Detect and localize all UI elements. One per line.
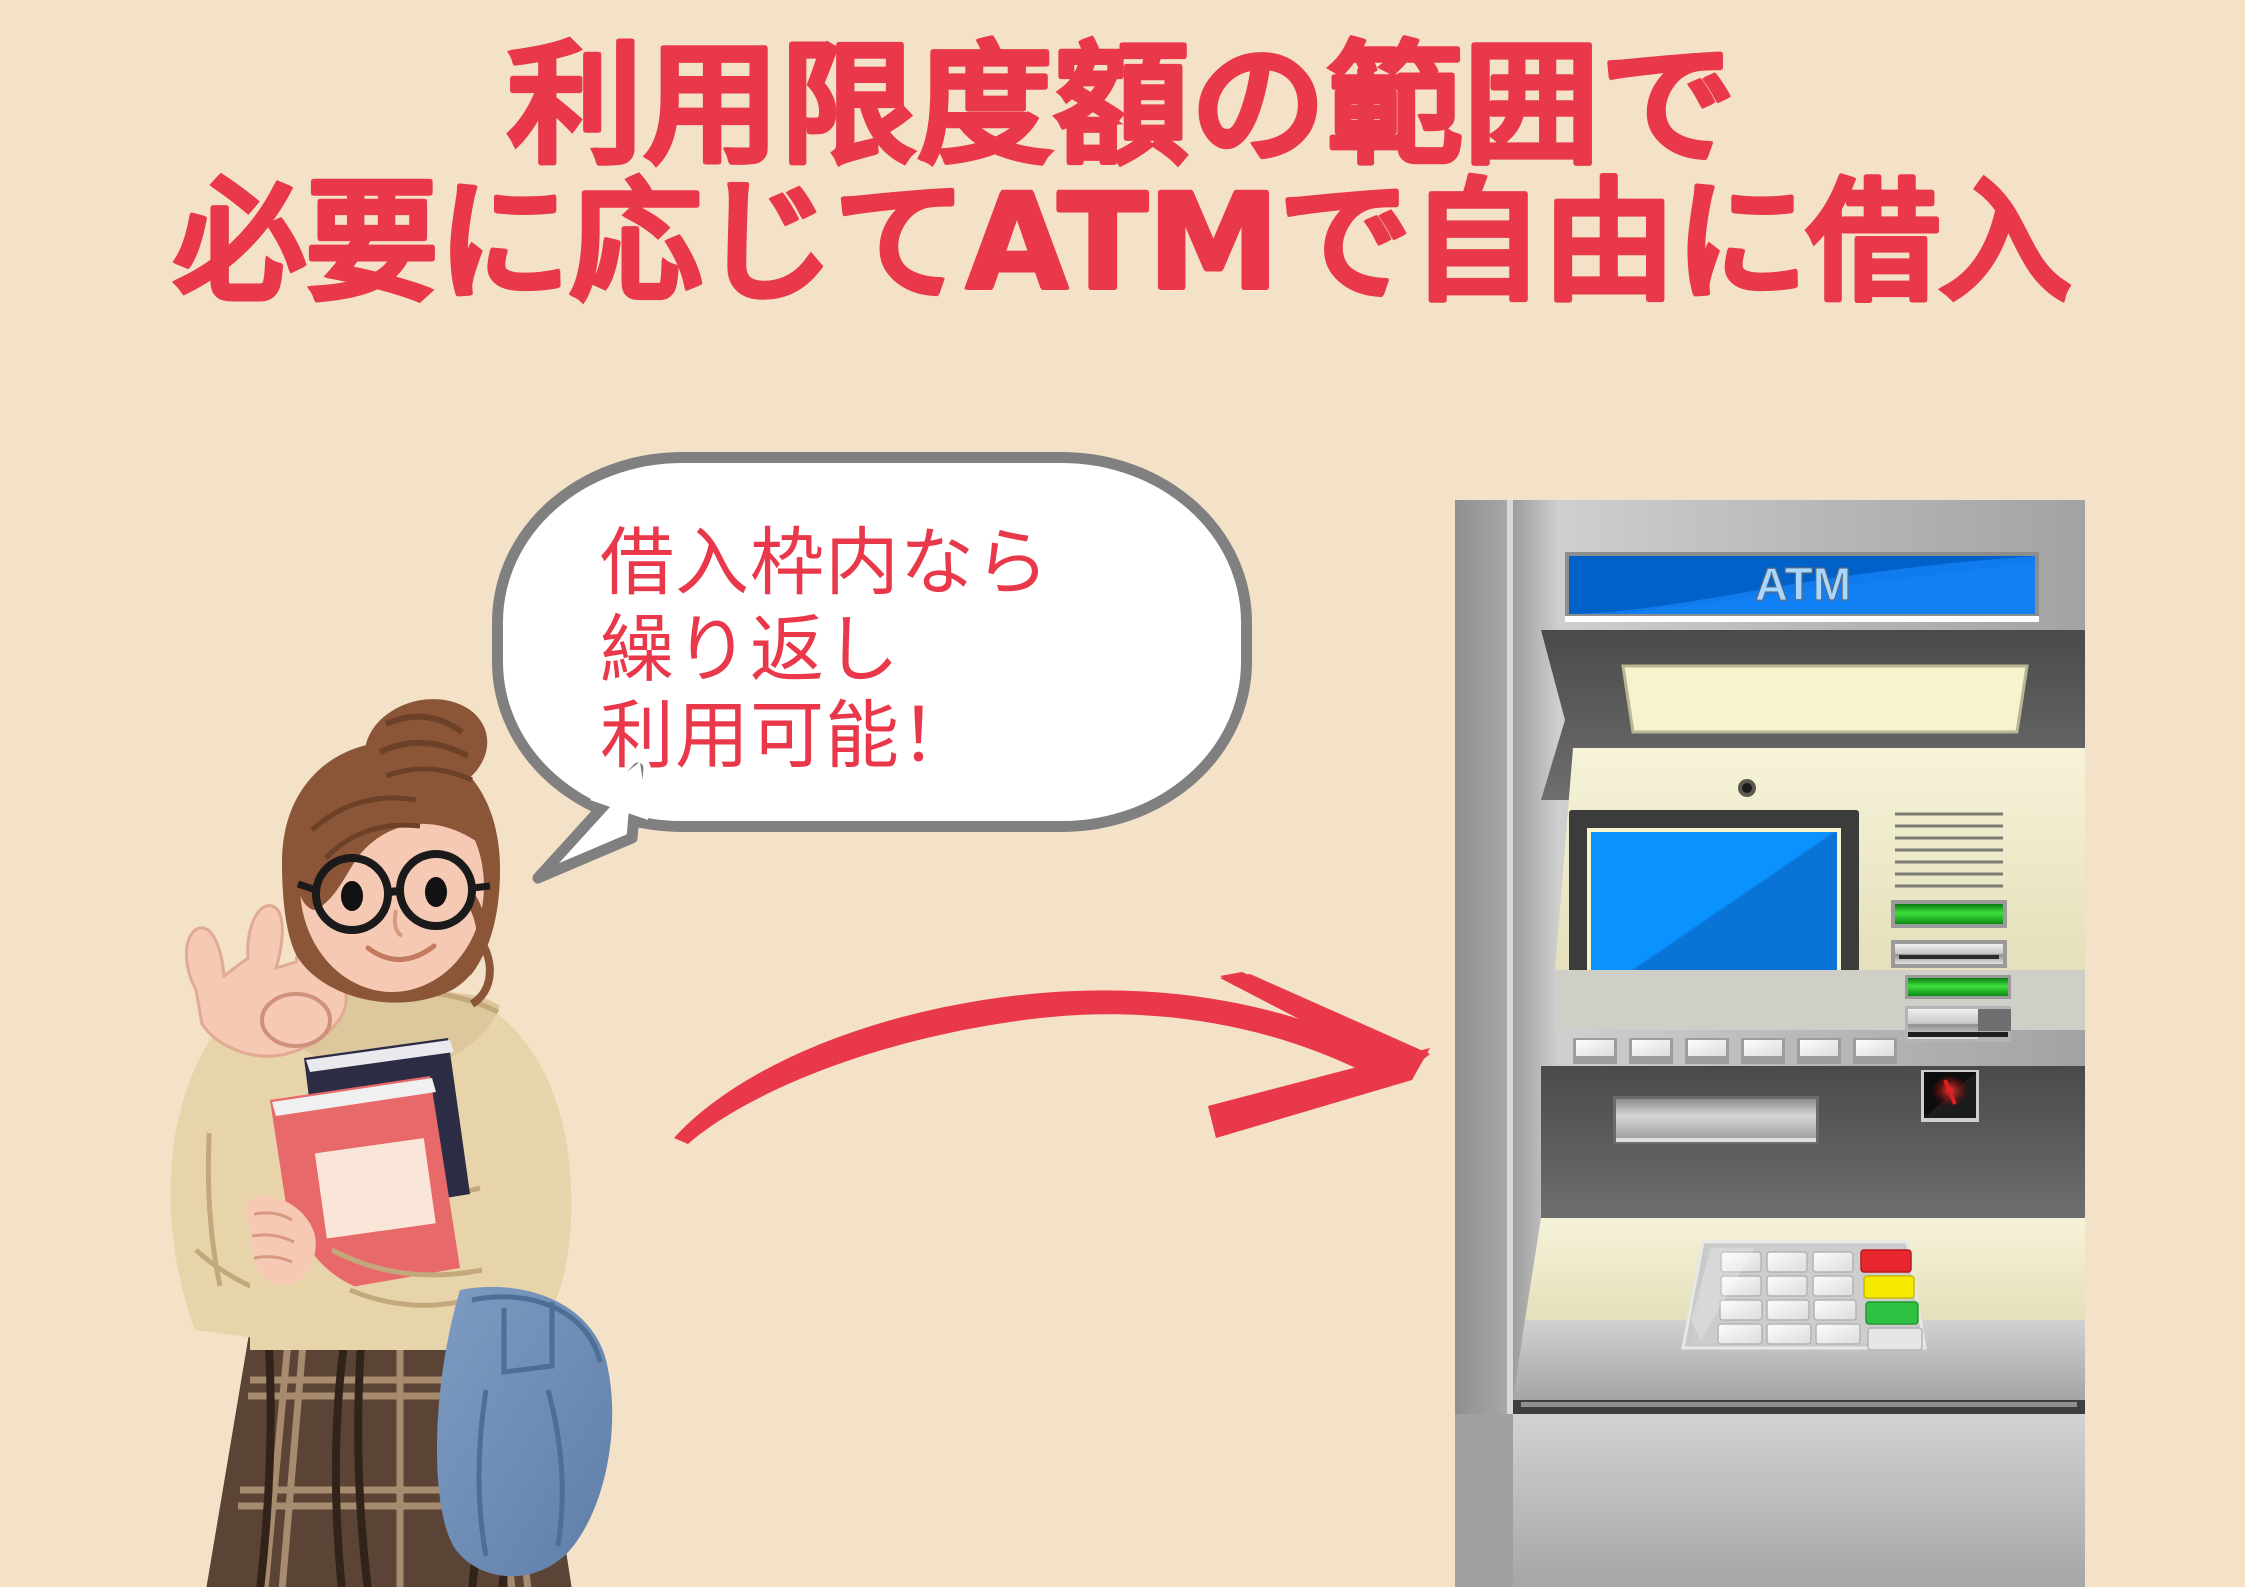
- barcode-scanner: [1921, 1070, 1979, 1122]
- speaker-grille-icon: [1895, 814, 2003, 886]
- card-slot[interactable]: [1891, 940, 2007, 968]
- bubble-line-3: 利用可能！: [600, 693, 1160, 780]
- speech-bubble-text: 借入枠内なら 繰り返し 利用可能！: [600, 520, 1160, 780]
- page-title: 利用限度額の範囲で 必要に応じてATMで自由に借入: [0, 38, 2245, 313]
- passbook-slot[interactable]: [1905, 1006, 2011, 1042]
- atm-machine: ATM: [1455, 500, 2085, 1587]
- key-confirm-green[interactable]: [1866, 1302, 1918, 1324]
- curved-arrow-icon: [660, 930, 1480, 1170]
- key-blank[interactable]: [1868, 1328, 1922, 1350]
- head: [282, 690, 500, 1004]
- key-correct-yellow[interactable]: [1864, 1276, 1914, 1298]
- headline-line-1: 利用限度額の範囲で: [0, 38, 2245, 175]
- atm-sign-label: ATM: [1755, 558, 1851, 610]
- cash-dispenser-slot[interactable]: [1613, 1096, 1819, 1144]
- atm-info-strip: [1623, 666, 2027, 732]
- bubble-line-1: 借入枠内なら: [600, 520, 1160, 607]
- indicator-light-top: [1891, 900, 2007, 928]
- poster-canvas: 利用限度額の範囲で 必要に応じてATMで自由に借入 借入枠内なら 繰り返し 利用…: [0, 0, 2245, 1587]
- atm-sign: ATM: [1565, 552, 2039, 622]
- atm-keypad[interactable]: [1683, 1242, 1925, 1350]
- indicator-light-bottom: [1905, 975, 2011, 999]
- key-cancel-red[interactable]: [1861, 1250, 1911, 1272]
- atm-pedestal: [1513, 1414, 2085, 1587]
- shoulder-bag: [437, 1287, 612, 1576]
- bubble-line-2: 繰り返し: [600, 607, 1160, 694]
- headline-line-2: 必要に応じてATMで自由に借入: [0, 175, 2245, 312]
